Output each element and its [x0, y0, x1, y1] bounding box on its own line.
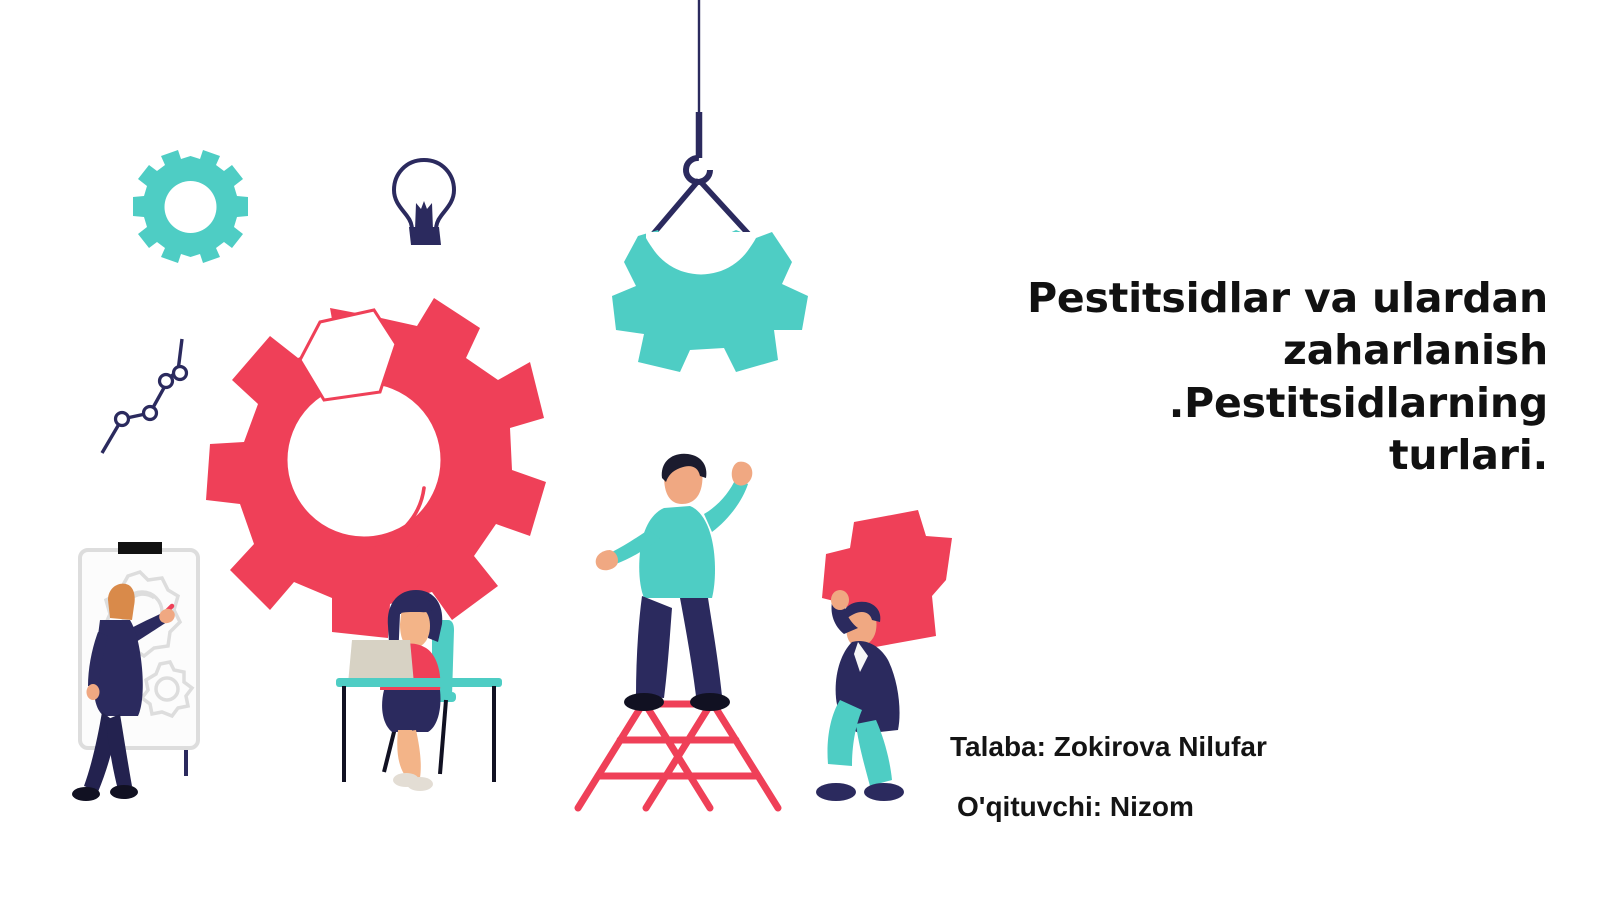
man-drawing-at-whiteboard [68, 540, 228, 810]
hanging-teal-gear [586, 0, 826, 372]
title-line-3: turlari. [1389, 431, 1548, 479]
man-carrying-gear [806, 504, 956, 812]
teacher-label: O'qituvchi: Nizom [957, 791, 1194, 823]
woman-working-on-laptop [336, 568, 504, 798]
lightbulb-icon [388, 157, 460, 252]
student-label: Talaba: Zokirova Nilufar [950, 731, 1267, 763]
page-title: Pestitsidlar va ulardan zaharlanish .Pes… [900, 272, 1548, 482]
teal-gear-icon [128, 150, 253, 272]
line-chart-icon [96, 333, 188, 455]
title-line-2: zaharlanish .Pestitsidlarning [1169, 326, 1548, 426]
man-standing-on-ladder [572, 452, 784, 808]
presentation-slide: Pestitsidlar va ulardan zaharlanish .Pes… [0, 0, 1600, 900]
title-line-1: Pestitsidlar va ulardan [1027, 274, 1548, 322]
